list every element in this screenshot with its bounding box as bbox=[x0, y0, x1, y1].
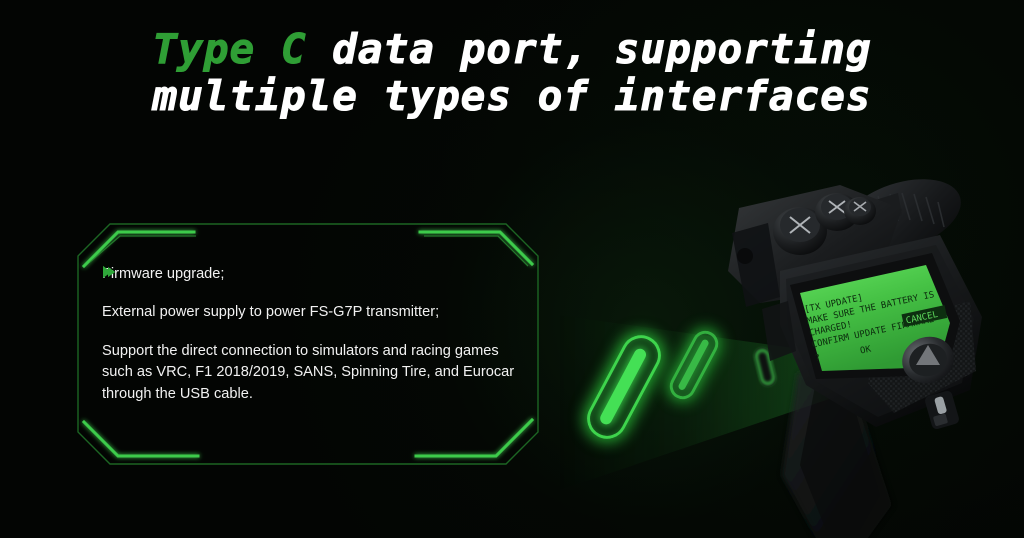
feature-text: Support the direct connection to simulat… bbox=[102, 341, 532, 405]
headline-line-1-rest: data port, supporting bbox=[332, 25, 871, 73]
corner-accent-bottom-right bbox=[416, 420, 532, 456]
feature-text: Firmware upgrade; bbox=[102, 264, 224, 285]
feature-list: Firmware upgrade; External power supply … bbox=[102, 264, 532, 405]
corner-accent-top-right bbox=[420, 232, 532, 264]
promo-banner: Type C data port, supporting multiple ty… bbox=[0, 0, 1024, 538]
transmitter-illustration: [TX UPDATE] MAKE SURE THE BATTERY IS CHA… bbox=[640, 175, 1024, 538]
headline-line-2: multiple types of interfaces bbox=[0, 75, 1024, 118]
corner-accent-top-left bbox=[84, 232, 194, 266]
headline-line-1: Type C data port, supporting bbox=[0, 28, 1024, 71]
headline-highlight: Type C bbox=[152, 25, 306, 73]
corner-accent-inner-top-right bbox=[424, 236, 528, 266]
corner-accent-bottom-left bbox=[84, 422, 198, 456]
list-item: Firmware upgrade; bbox=[102, 264, 532, 285]
feature-panel: Firmware upgrade; External power supply … bbox=[76, 222, 540, 466]
list-item: Support the direct connection to simulat… bbox=[102, 341, 532, 405]
chevron-right-icon bbox=[102, 264, 116, 280]
page-title: Type C data port, supporting multiple ty… bbox=[0, 28, 1024, 119]
feature-text: External power supply to power FS-G7P tr… bbox=[102, 302, 439, 323]
top-port-hole bbox=[737, 248, 753, 264]
list-item: External power supply to power FS-G7P tr… bbox=[102, 302, 532, 323]
fs-g7p-rc-transmitter: [TX UPDATE] MAKE SURE THE BATTERY IS CHA… bbox=[640, 175, 1024, 538]
corner-accent-inner-top-left bbox=[90, 236, 196, 262]
rotary-knob-small[interactable] bbox=[844, 197, 876, 225]
